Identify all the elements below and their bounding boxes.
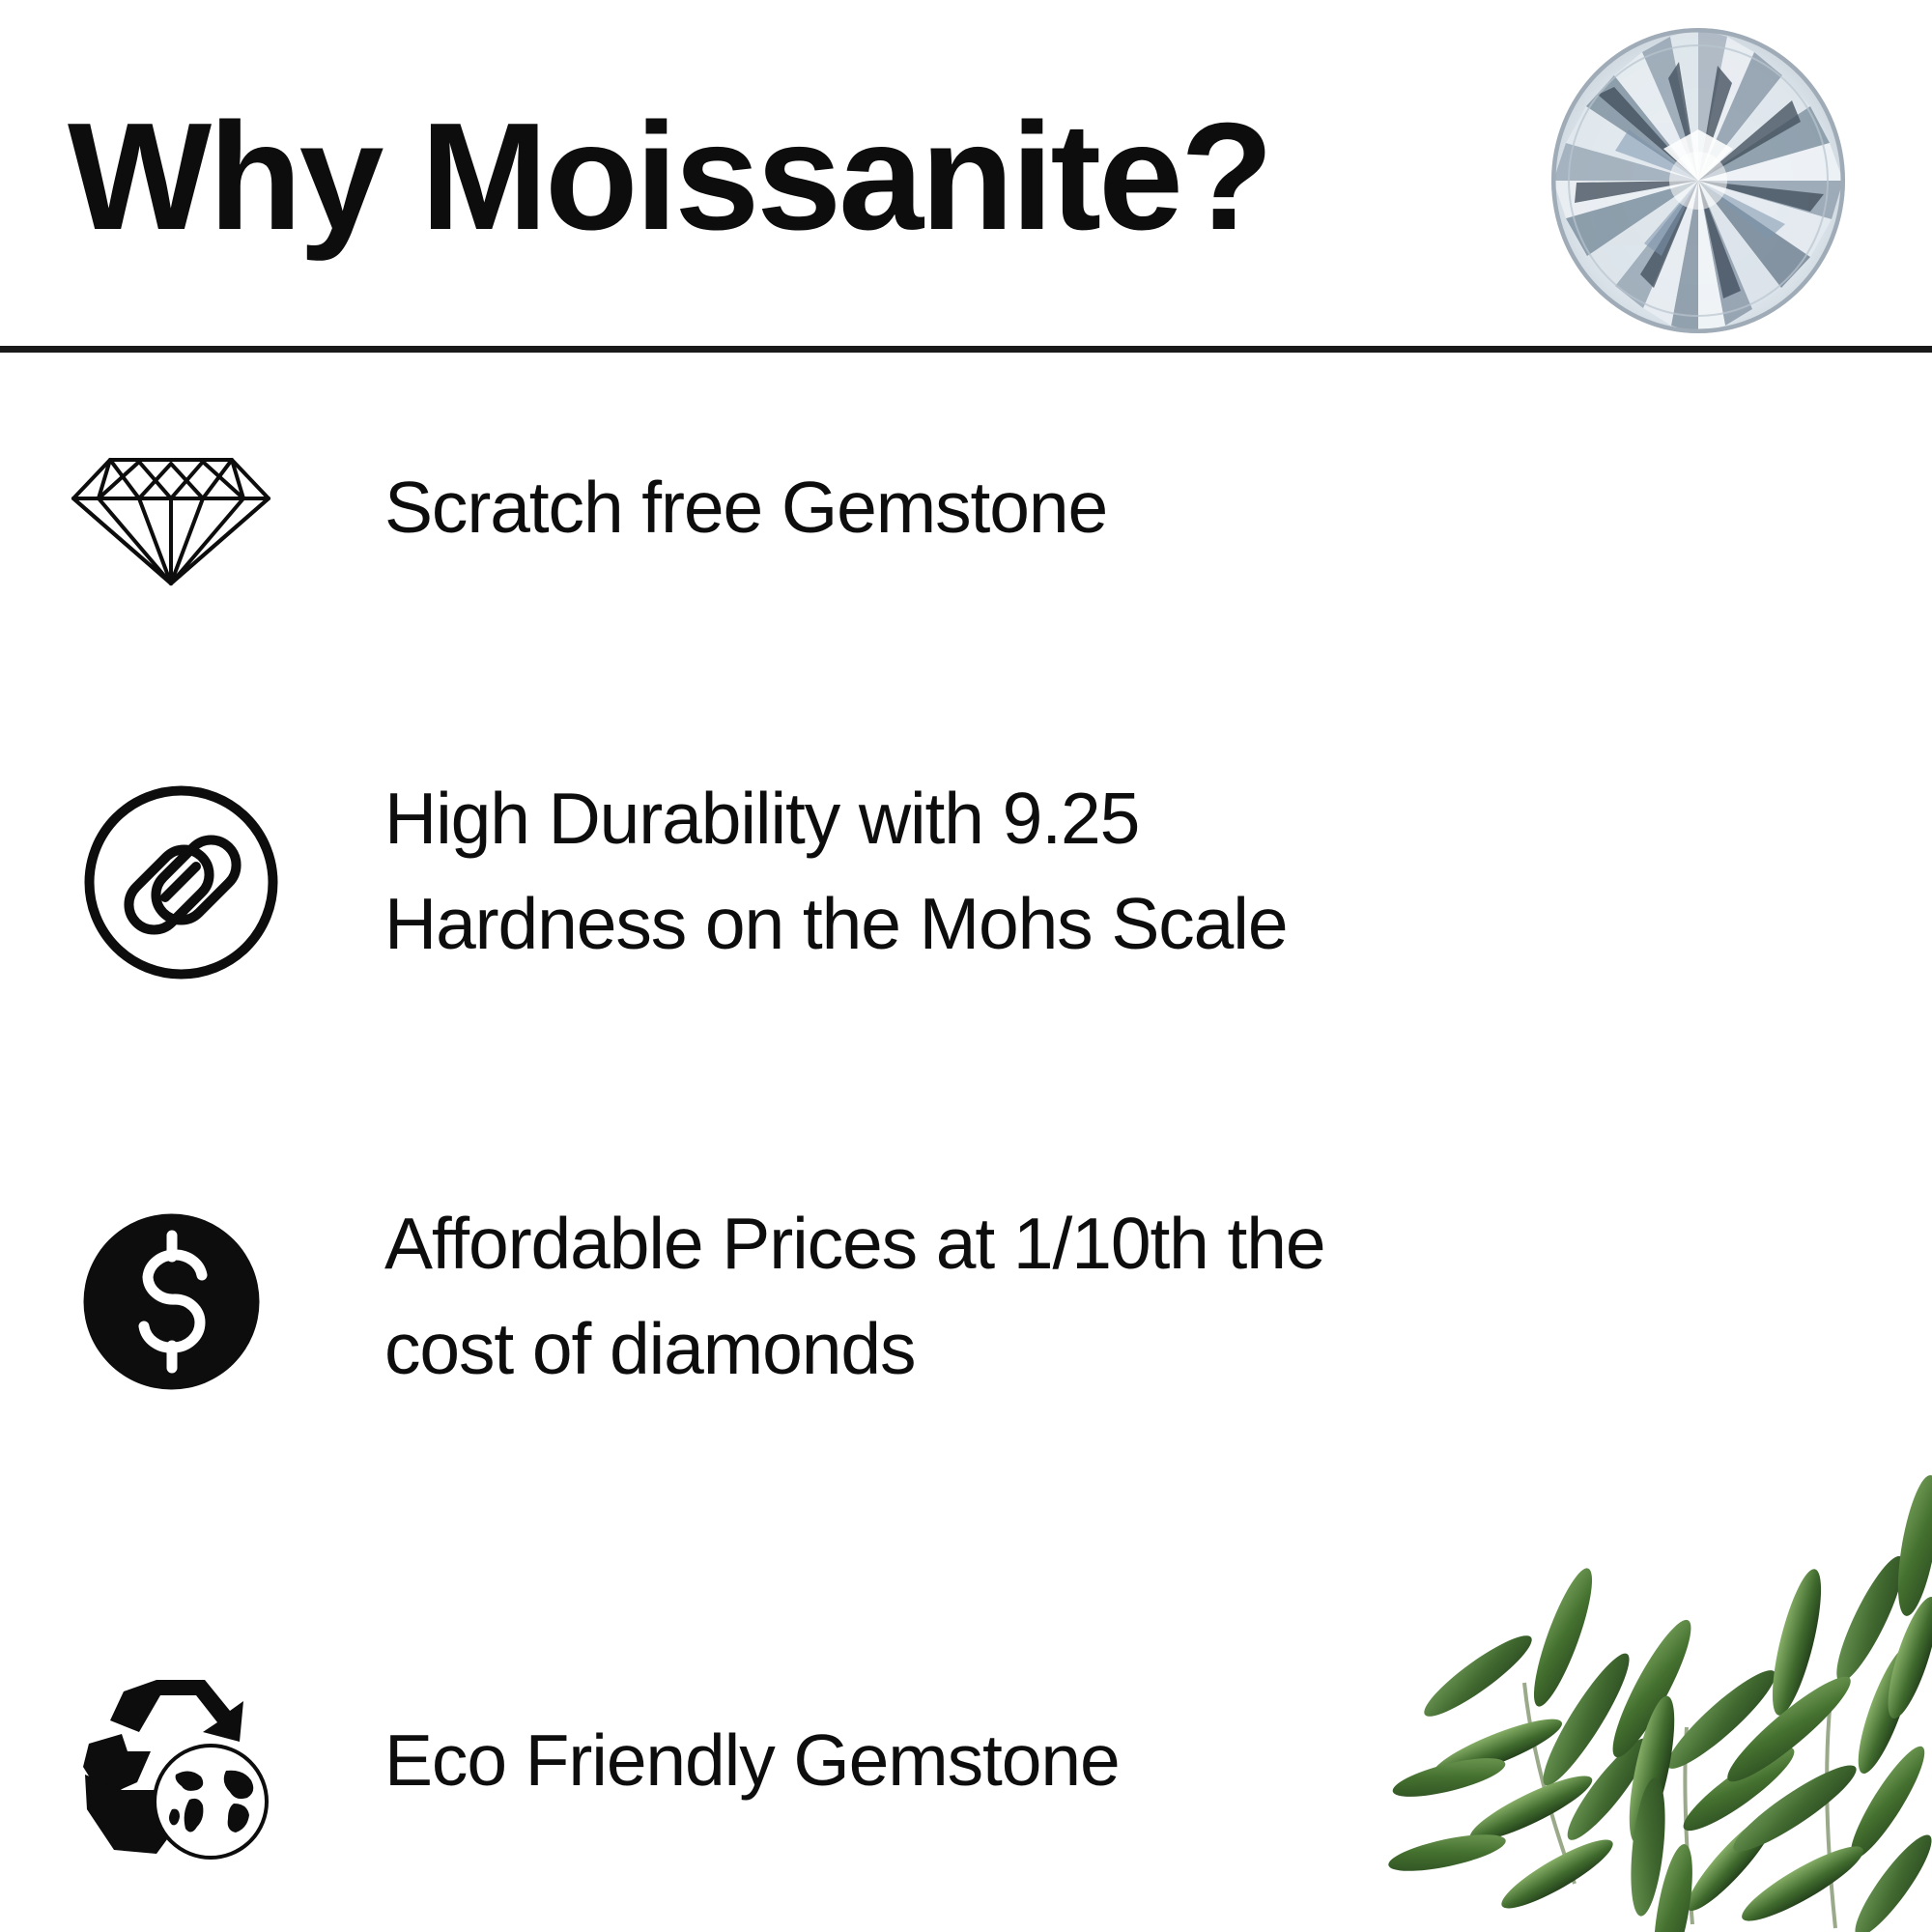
diamond-outline-icon bbox=[70, 452, 272, 587]
link-chain-circle-icon bbox=[82, 783, 280, 981]
infographic-page: Why Moissanite? bbox=[0, 0, 1932, 1932]
round-brilliant-diamond-image bbox=[1548, 25, 1849, 336]
recycle-globe-icon bbox=[68, 1674, 275, 1867]
header: Why Moissanite? bbox=[0, 0, 1932, 351]
feature-list: Scratch free Gemstone High Durabili bbox=[0, 351, 1932, 1932]
feature-label: Scratch free Gemstone bbox=[384, 455, 1107, 560]
list-item: Scratch free Gemstone bbox=[0, 351, 1932, 737]
page-title: Why Moissanite? bbox=[68, 100, 1270, 253]
feature-label: Affordable Prices at 1/10th the cost of … bbox=[384, 1191, 1325, 1402]
list-item: High Durability with 9.25 Hardness on th… bbox=[0, 737, 1932, 1191]
list-item: Affordable Prices at 1/10th the cost of … bbox=[0, 1191, 1932, 1626]
dollar-coin-icon bbox=[82, 1212, 261, 1391]
list-item: Eco Friendly Gemstone bbox=[0, 1626, 1932, 1932]
feature-label: Eco Friendly Gemstone bbox=[384, 1708, 1120, 1813]
feature-label: High Durability with 9.25 Hardness on th… bbox=[384, 766, 1287, 977]
